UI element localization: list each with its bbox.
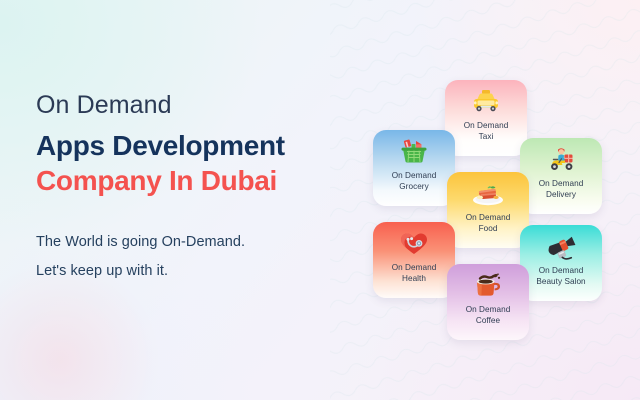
service-card-label: On Demand Grocery [389, 170, 440, 193]
service-card-health[interactable]: On Demand Health [373, 222, 455, 298]
service-card-label: On Demand Food [463, 212, 514, 235]
kicker-text: On Demand [36, 92, 366, 120]
hair-dryer-icon [544, 232, 578, 262]
heart-stethoscope-icon [397, 229, 431, 259]
label-line-2: Delivery [546, 190, 576, 199]
coffee-mug-icon [471, 271, 505, 301]
subcopy-line-1: The World is going On-Demand. [36, 228, 366, 256]
subcopy-block: The World is going On-Demand. Let's keep… [36, 228, 366, 285]
headline-block: On Demand Apps Development Company In Du… [36, 92, 366, 285]
service-card-label: On Demand Delivery [536, 178, 587, 201]
label-line-1: On Demand [392, 171, 437, 180]
service-card-label: On Demand Taxi [461, 120, 512, 143]
label-line-1: On Demand [466, 305, 511, 314]
grocery-basket-icon [397, 137, 431, 167]
label-line-2: Coffee [476, 316, 500, 325]
headline-accent: Company In Dubai [36, 163, 366, 200]
label-line-2: Beauty Salon [536, 277, 585, 286]
label-line-1: On Demand [464, 121, 509, 130]
service-card-label: On Demand Coffee [463, 304, 514, 327]
label-line-2: Grocery [399, 182, 428, 191]
food-plate-icon [471, 179, 505, 209]
service-card-grocery[interactable]: On Demand Grocery [373, 130, 455, 206]
label-line-1: On Demand [539, 179, 584, 188]
scooter-delivery-icon [544, 145, 578, 175]
service-card-label: On Demand Health [389, 262, 440, 285]
label-line-2: Taxi [479, 132, 494, 141]
service-card-delivery[interactable]: On Demand Delivery [520, 138, 602, 214]
label-line-1: On Demand [392, 263, 437, 272]
label-line-2: Food [479, 224, 498, 233]
label-line-1: On Demand [539, 266, 584, 275]
taxi-icon [469, 87, 503, 117]
promo-banner: On Demand Apps Development Company In Du… [0, 0, 640, 400]
label-line-2: Health [402, 274, 426, 283]
service-card-label: On Demand Beauty Salon [533, 265, 588, 288]
label-line-1: On Demand [466, 213, 511, 222]
subcopy-line-2: Let's keep up with it. [36, 257, 366, 285]
service-card-food[interactable]: On Demand Food [447, 172, 529, 248]
service-card-beauty-salon[interactable]: On Demand Beauty Salon [520, 225, 602, 301]
headline-primary: Apps Development [36, 128, 366, 165]
service-card-taxi[interactable]: On Demand Taxi [445, 80, 527, 156]
service-card-coffee[interactable]: On Demand Coffee [447, 264, 529, 340]
